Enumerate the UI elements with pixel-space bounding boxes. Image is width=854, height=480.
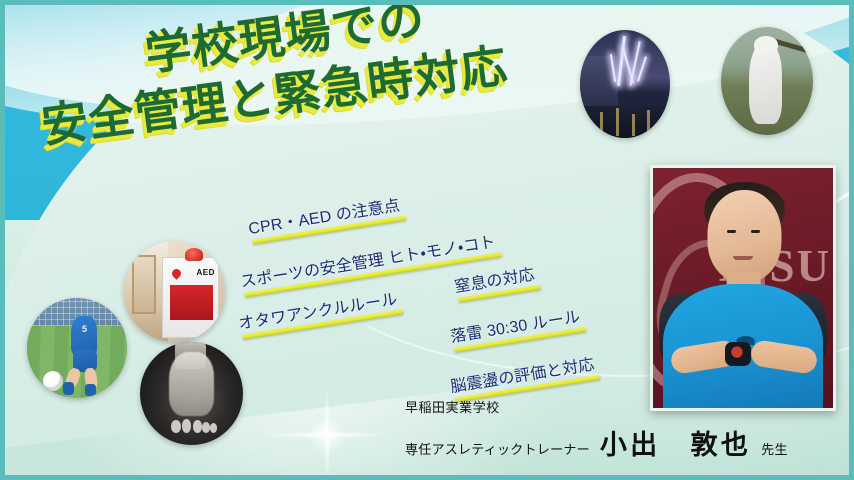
jersey-number: 5 bbox=[82, 324, 87, 334]
foot-xray-photo bbox=[140, 342, 243, 445]
slide-canvas: 学校現場での 安全管理と緊急時対応 bbox=[5, 5, 849, 475]
portrait-eye-left bbox=[727, 230, 736, 233]
speaker-honorific: 先生 bbox=[761, 439, 788, 458]
speaker-credits: 早稲田実業学校 専任アスレティックトレーナー 小出 敦也 先生 bbox=[405, 397, 788, 462]
presentation-slide: 学校現場での 安全管理と緊急時対応 bbox=[0, 0, 854, 480]
baseball-batter-photo bbox=[721, 27, 813, 135]
school-name: 早稲田実業学校 bbox=[405, 397, 788, 416]
wristwatch-icon bbox=[725, 342, 751, 366]
portrait-head bbox=[707, 190, 781, 282]
soccer-player-photo: 5 bbox=[27, 298, 127, 398]
speaker-name: 小出 敦也 bbox=[600, 423, 751, 462]
speaker-role: 専任アスレティックトレーナー bbox=[405, 439, 590, 458]
portrait-eye-right bbox=[751, 230, 760, 233]
lightning-over-city-photo bbox=[580, 30, 670, 138]
aed-label: AED bbox=[197, 268, 215, 277]
aed-cabinet-photo: AED bbox=[124, 241, 225, 342]
speaker-portrait: ITSU bbox=[650, 165, 836, 411]
portrait-mouth bbox=[733, 256, 753, 260]
